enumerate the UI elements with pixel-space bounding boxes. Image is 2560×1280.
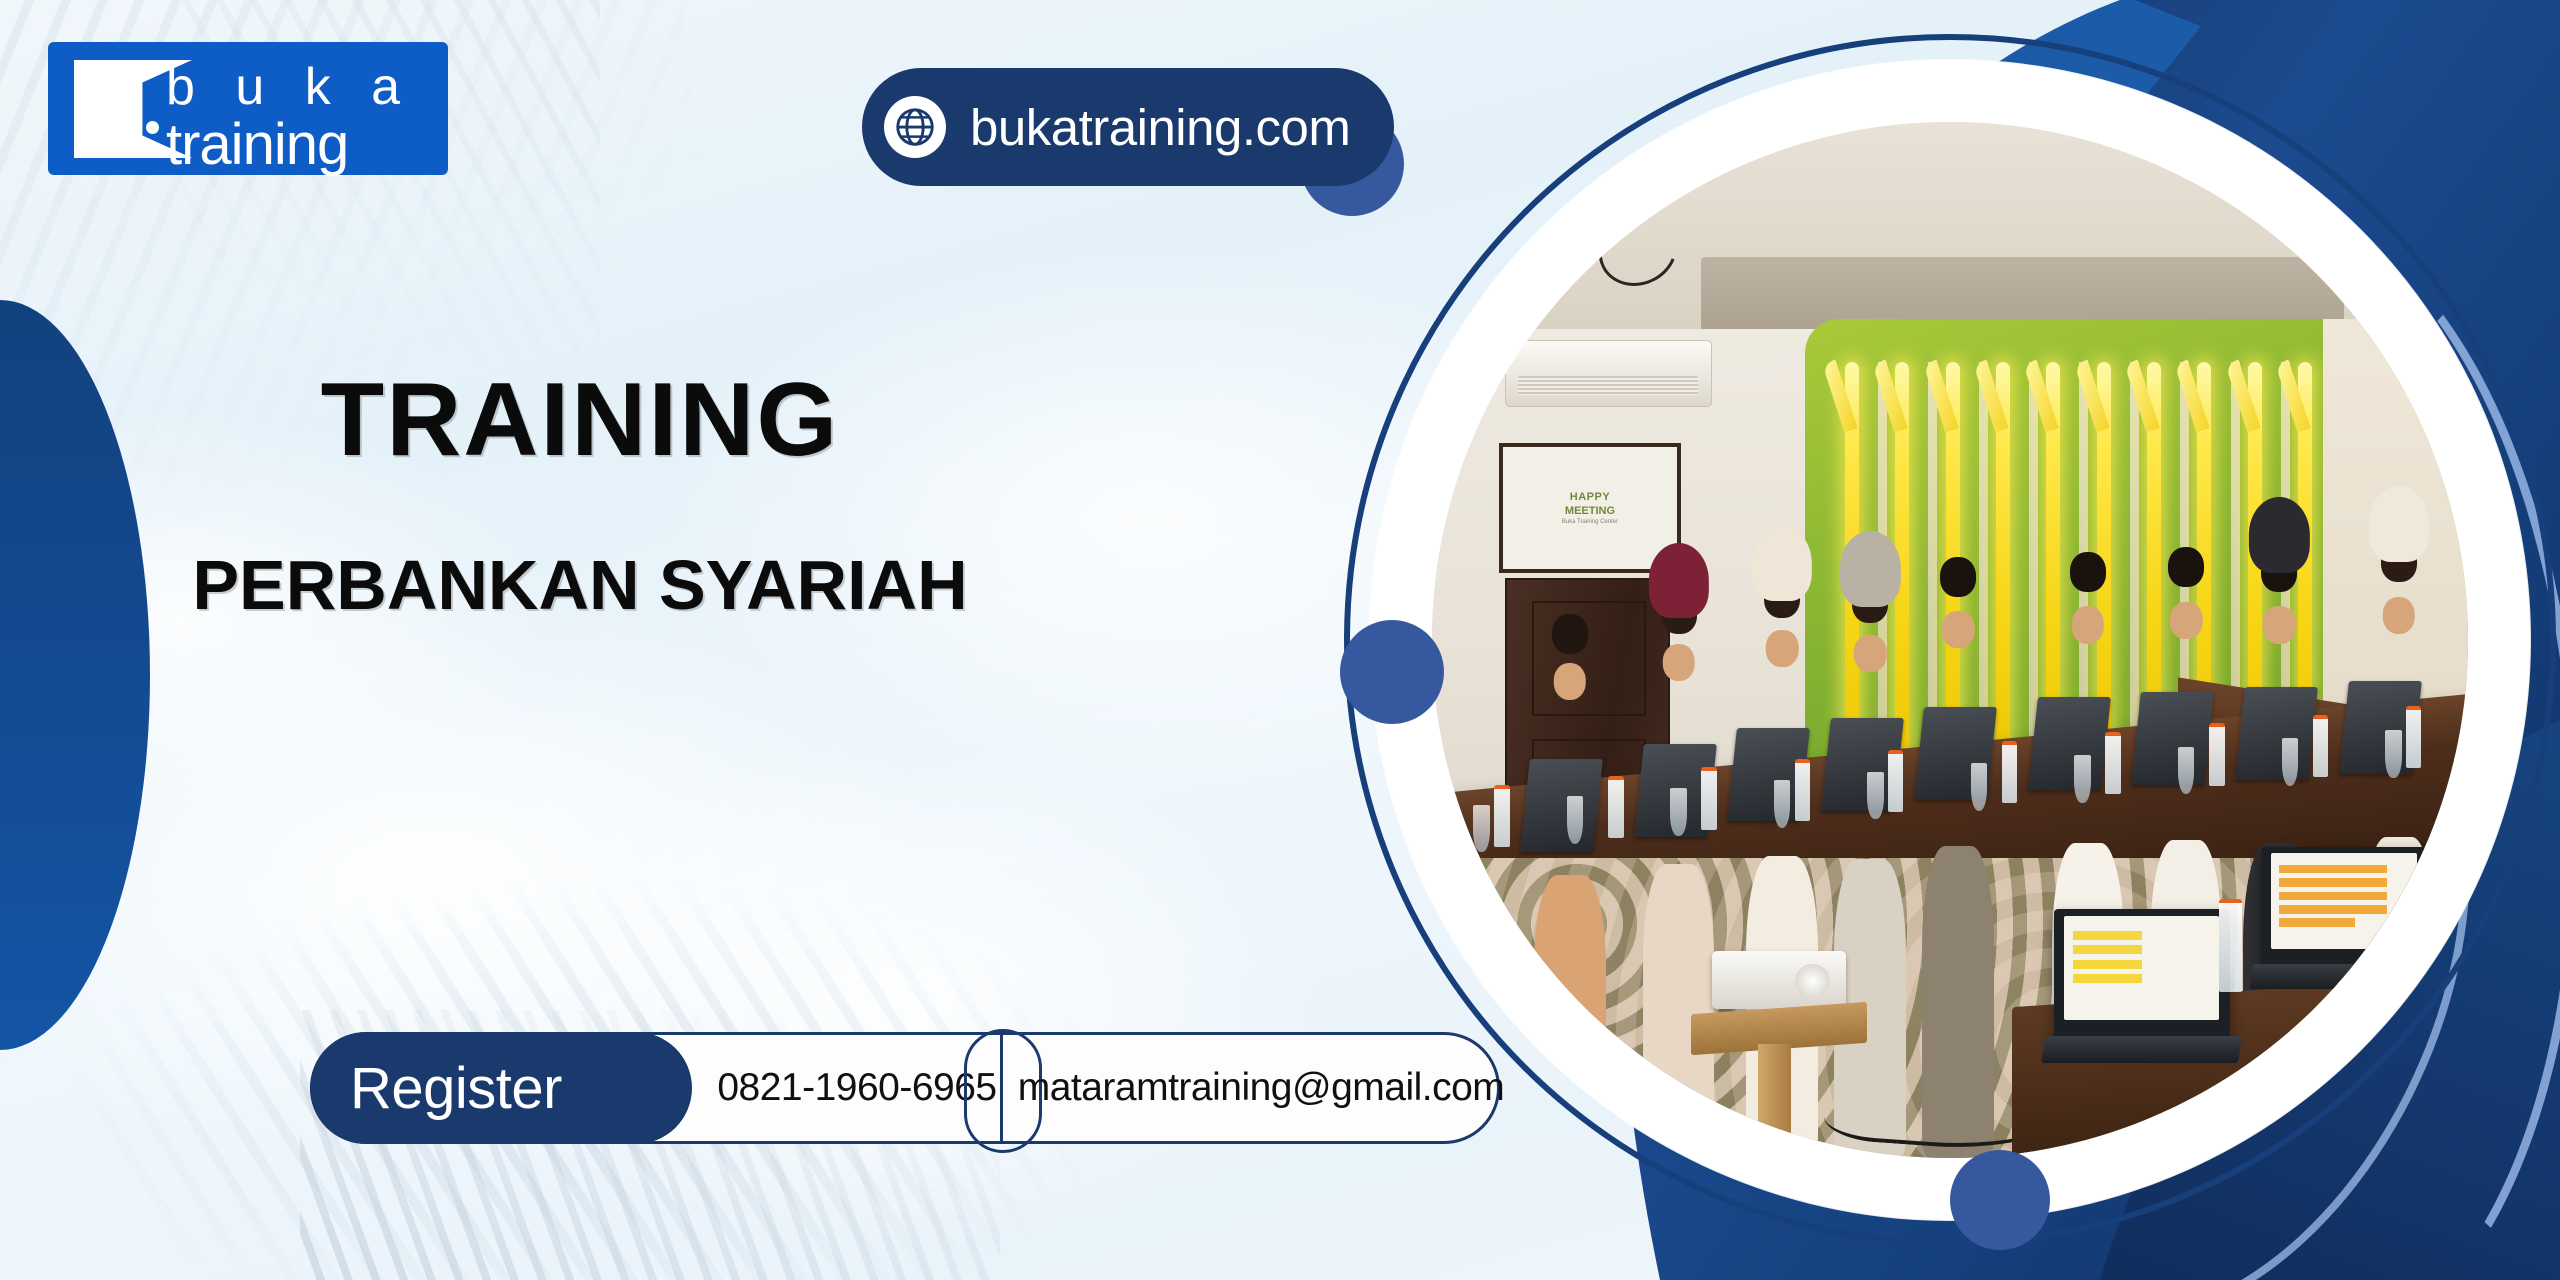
water-bottle	[1701, 767, 1717, 829]
drinking-glass	[1774, 780, 1791, 828]
register-button[interactable]: Register	[310, 1032, 692, 1144]
drinking-glass	[2282, 738, 2299, 786]
drinking-glass	[1867, 772, 1884, 820]
participant-laptop	[2132, 692, 2214, 785]
laptop-base-left	[2041, 1036, 2242, 1063]
foreground-laptop-right	[2261, 847, 2427, 971]
water-bottle-foreground	[2219, 899, 2242, 992]
logo-word-training: training	[166, 116, 413, 174]
participant	[1541, 614, 1599, 1158]
participant-face	[1662, 644, 1694, 681]
water-bottle	[2002, 741, 2018, 803]
water-bottle	[2313, 715, 2329, 777]
water-bottle	[2209, 723, 2225, 785]
drinking-glass	[1971, 763, 1988, 811]
headline-block: TRAINING PERBANKAN SYARIAH	[0, 368, 1160, 620]
contact-email[interactable]: mataramtraining@gmail.com	[1022, 1032, 1500, 1144]
water-bottle	[1494, 785, 1510, 847]
laptop-base-right	[2249, 964, 2438, 989]
water-bottle	[1608, 776, 1624, 838]
register-bar: Register 0821-1960-6965 mataramtraining@…	[310, 1032, 1500, 1144]
participant-hair	[1940, 557, 1976, 597]
participant-laptop	[1520, 759, 1602, 852]
participant-hijab	[1648, 543, 1708, 618]
globe-icon	[884, 96, 946, 158]
participant-hijab	[1752, 526, 1812, 601]
participant-face	[1554, 663, 1586, 700]
participant-hijab	[2249, 497, 2309, 572]
participant-face	[2263, 606, 2295, 643]
participant-hijab	[1840, 531, 1900, 606]
contact-divider	[1000, 1032, 1003, 1144]
participant-hair	[2168, 547, 2204, 587]
water-bottle	[2406, 706, 2422, 768]
sign-line-3: Buka Training Center	[1562, 519, 1618, 525]
sign-line-2: MEETING	[1565, 505, 1615, 517]
room-scene: HAPPY MEETING Buka Training Center	[1432, 122, 2468, 1158]
training-promo-banner: HAPPY MEETING Buka Training Center	[0, 0, 2560, 1280]
participant-face	[1766, 630, 1798, 667]
page-title: TRAINING	[0, 368, 1160, 472]
water-bottle	[2105, 732, 2121, 794]
projector-stand-leg	[1758, 1044, 1791, 1158]
logo-dot-icon	[146, 121, 159, 134]
water-bottle	[1888, 750, 1904, 812]
happy-meeting-sign: HAPPY MEETING Buka Training Center	[1499, 443, 1680, 573]
participant-laptop	[2235, 687, 2317, 780]
participant-face	[2170, 602, 2202, 639]
page-subtitle: PERBANKAN SYARIAH	[0, 550, 1160, 620]
air-conditioner-icon	[1505, 340, 1712, 407]
participant-face	[2382, 597, 2414, 634]
participant-face	[1942, 611, 1974, 648]
buka-training-logo[interactable]: b u k a training	[48, 42, 448, 175]
drinking-glass	[1670, 788, 1687, 836]
participant	[1650, 593, 1708, 1158]
photo-medallion: HAPPY MEETING Buka Training Center	[1370, 60, 2530, 1220]
laptop-screen-left	[2064, 916, 2219, 1020]
accent-dot-left	[1340, 620, 1444, 724]
projector-device	[1712, 951, 1847, 1009]
foreground-laptop-left	[2054, 909, 2230, 1044]
drinking-glass	[2074, 755, 2091, 803]
participant-hair	[1552, 614, 1588, 654]
participant-torso	[1534, 875, 1606, 1158]
participant-torso	[1643, 864, 1715, 1158]
drinking-glass	[1473, 805, 1490, 853]
participant-hijab	[2368, 486, 2428, 561]
participant-face	[1854, 635, 1886, 672]
drinking-glass	[2178, 747, 2195, 795]
participant-face	[2072, 606, 2104, 643]
water-bottle	[1795, 759, 1811, 821]
logo-word-buka: b u k a	[166, 58, 413, 116]
register-label: Register	[350, 1055, 562, 1122]
laptop-screen-right	[2271, 853, 2417, 949]
participant-hair	[2070, 552, 2106, 592]
sign-line-1: HAPPY	[1570, 491, 1610, 503]
drinking-glass	[1567, 796, 1584, 844]
accent-dot-bottom	[1950, 1150, 2050, 1250]
website-url: bukatraining.com	[970, 98, 1350, 157]
drinking-glass	[2385, 730, 2402, 778]
logo-wordmark: b u k a training	[166, 58, 413, 174]
participant-laptop	[2028, 697, 2110, 790]
website-badge[interactable]: bukatraining.com	[862, 68, 1394, 186]
training-room-photo: HAPPY MEETING Buka Training Center	[1432, 122, 2468, 1158]
